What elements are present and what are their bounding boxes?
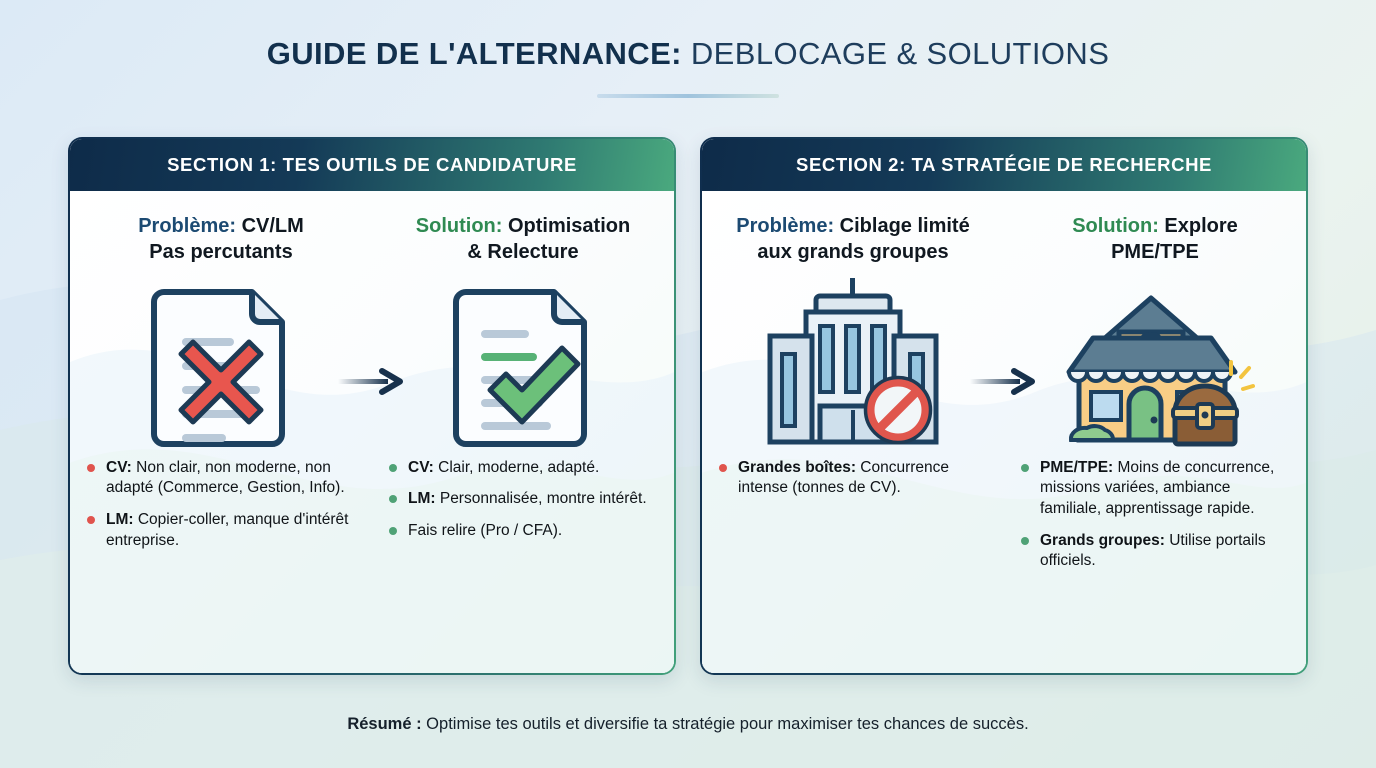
- page-title: GUIDE DE L'ALTERNANCE: DEBLOCAGE & SOLUT…: [0, 36, 1376, 72]
- section-2-solution-bullets: PME/TPE: Moins de concurrence, missions …: [1020, 458, 1290, 583]
- arrow-right-icon: [968, 367, 1040, 397]
- bullet-label: Grandes boîtes:: [738, 459, 856, 476]
- title-divider: [597, 94, 779, 98]
- solution-text-line1: Explore: [1159, 215, 1238, 237]
- section-1-solution-bullets: CV: Clair, moderne, adapté. LM: Personna…: [388, 458, 658, 553]
- list-item: CV: Clair, moderne, adapté.: [388, 458, 658, 479]
- small-shop-treasure-icon: [1020, 272, 1290, 458]
- solution-text-line1: Optimisation: [502, 215, 630, 237]
- section-2-problem-bullets: Grandes boîtes: Concurrence intense (ton…: [718, 458, 988, 510]
- section-2-solution-heading: Solution: Explore PME/TPE: [1020, 213, 1290, 266]
- section-1-problem-heading: Problème: CV/LM Pas percutants: [86, 213, 356, 266]
- page-header: GUIDE DE L'ALTERNANCE: DEBLOCAGE & SOLUT…: [0, 0, 1376, 98]
- bullet-text: Non clair, non moderne, non adapté (Comm…: [106, 459, 345, 497]
- list-item: Grandes boîtes: Concurrence intense (ton…: [718, 458, 988, 499]
- bullet-label: CV:: [408, 459, 434, 476]
- problem-text-line1: CV/LM: [236, 215, 304, 237]
- list-item: LM: Personnalisée, montre intérêt.: [388, 489, 658, 510]
- section-1-problem-column: Problème: CV/LM Pas percutants: [70, 191, 372, 673]
- arrow-right-icon: [336, 367, 408, 397]
- list-item: Fais relire (Pro / CFA).: [388, 521, 658, 542]
- problem-text-line2: aux grands groupes: [757, 241, 948, 263]
- section-1-body: Problème: CV/LM Pas percutants: [70, 191, 674, 673]
- document-with-red-cross-icon: [86, 272, 356, 458]
- list-item: LM: Copier-coller, manque d'intérêt entr…: [86, 510, 356, 551]
- bullet-text: Clair, moderne, adapté.: [434, 459, 599, 476]
- section-1-heading: SECTION 1: TES OUTILS DE CANDIDATURE: [70, 139, 674, 191]
- document-with-green-check-icon: [388, 272, 658, 458]
- section-1-solution-heading: Solution: Optimisation & Relecture: [388, 213, 658, 266]
- page-title-strong: GUIDE DE L'ALTERNANCE:: [267, 36, 682, 71]
- section-card-1: SECTION 1: TES OUTILS DE CANDIDATURE Pro…: [68, 137, 676, 675]
- section-2-body: Problème: Ciblage limité aux grands grou…: [702, 191, 1306, 673]
- problem-text-line2: Pas percutants: [149, 241, 292, 263]
- section-card-2: SECTION 2: TA STRATÉGIE DE RECHERCHE Pro…: [700, 137, 1308, 675]
- summary-text: Optimise tes outils et diversifie ta str…: [422, 715, 1029, 733]
- list-item: CV: Non clair, non moderne, non adapté (…: [86, 458, 356, 499]
- office-tower-blocked-icon: [718, 272, 988, 458]
- problem-text-line1: Ciblage limité: [834, 215, 970, 237]
- bullet-text: Personnalisée, montre intérêt.: [436, 490, 647, 507]
- solution-text-line2: PME/TPE: [1111, 241, 1199, 263]
- bullet-label: Grands groupes:: [1040, 532, 1165, 549]
- list-item: Grands groupes: Utilise portails officie…: [1020, 531, 1290, 572]
- bullet-label: PME/TPE:: [1040, 459, 1113, 476]
- sections-container: SECTION 1: TES OUTILS DE CANDIDATURE Pro…: [68, 137, 1308, 675]
- bullet-text: Copier-coller, manque d'intérêt entrepri…: [106, 511, 348, 549]
- summary-footer: Résumé : Optimise tes outils et diversif…: [0, 715, 1376, 734]
- problem-label: Problème:: [736, 215, 834, 237]
- summary-label: Résumé :: [347, 715, 421, 733]
- solution-label: Solution:: [416, 215, 503, 237]
- bullet-label: LM:: [106, 511, 134, 528]
- bullet-label: LM:: [408, 490, 436, 507]
- section-2-solution-column: Solution: Explore PME/TPE: [1004, 191, 1306, 673]
- solution-label: Solution:: [1072, 215, 1159, 237]
- section-1-problem-bullets: CV: Non clair, non moderne, non adapté (…: [86, 458, 356, 562]
- list-item: PME/TPE: Moins de concurrence, missions …: [1020, 458, 1290, 520]
- section-2-heading: SECTION 2: TA STRATÉGIE DE RECHERCHE: [702, 139, 1306, 191]
- section-1-solution-column: Solution: Optimisation & Relecture: [372, 191, 674, 673]
- bullet-text: Fais relire (Pro / CFA).: [408, 522, 562, 539]
- solution-text-line2: & Relecture: [467, 241, 578, 263]
- section-2-problem-heading: Problème: Ciblage limité aux grands grou…: [718, 213, 988, 266]
- problem-label: Problème:: [138, 215, 236, 237]
- section-2-problem-column: Problème: Ciblage limité aux grands grou…: [702, 191, 1004, 673]
- page-title-light: DEBLOCAGE & SOLUTIONS: [682, 36, 1109, 71]
- bullet-label: CV:: [106, 459, 132, 476]
